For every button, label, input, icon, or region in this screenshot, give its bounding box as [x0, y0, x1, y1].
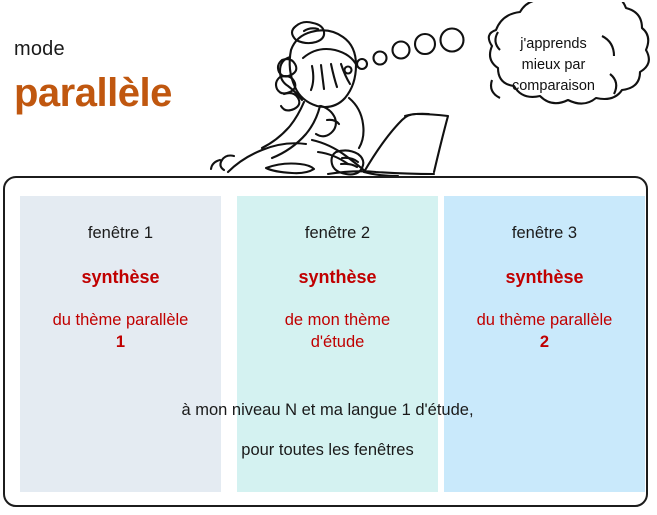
window-column-2: fenêtre 2 synthèse de mon thème d'étude [237, 196, 438, 492]
parallel-mode-panel: fenêtre 1 synthèse du thème parallèle 1 … [3, 176, 648, 507]
window-detail-text-2: de mon thème [285, 311, 390, 329]
window-detail-3: du thème parallèle 2 [444, 310, 645, 354]
page-title: parallèle [14, 73, 172, 113]
window-detail-1: du thème parallèle 1 [20, 310, 221, 354]
window-detail-emphasis-2: d'étude [239, 332, 436, 354]
window-column-1: fenêtre 1 synthèse du thème parallèle 1 [20, 196, 221, 492]
window-detail-2: de mon thème d'étude [237, 310, 438, 354]
header-area: mode parallèle [0, 0, 657, 176]
window-detail-emphasis-1: 1 [22, 332, 219, 354]
thought-bubble-line-2: mieux par [522, 55, 586, 75]
thought-bubble-line-1: j'apprends [520, 34, 586, 54]
synthesis-label-1: synthèse [20, 267, 221, 288]
window-detail-text-1: du thème parallèle [53, 311, 189, 329]
window-label-2: fenêtre 2 [237, 224, 438, 243]
window-label-3: fenêtre 3 [444, 224, 645, 243]
window-detail-emphasis-3: 2 [446, 332, 643, 354]
synthesis-label-3: synthèse [444, 267, 645, 288]
thought-bubble: j'apprends mieux par comparaison [452, 2, 655, 124]
window-detail-text-3: du thème parallèle [477, 311, 613, 329]
window-label-1: fenêtre 1 [20, 224, 221, 243]
mode-label: mode [14, 38, 65, 61]
thought-bubble-text: j'apprends mieux par comparaison [452, 2, 655, 124]
window-column-3: fenêtre 3 synthèse du thème parallèle 2 [444, 196, 645, 492]
synthesis-label-2: synthèse [237, 267, 438, 288]
thought-bubble-line-3: comparaison [512, 76, 595, 96]
